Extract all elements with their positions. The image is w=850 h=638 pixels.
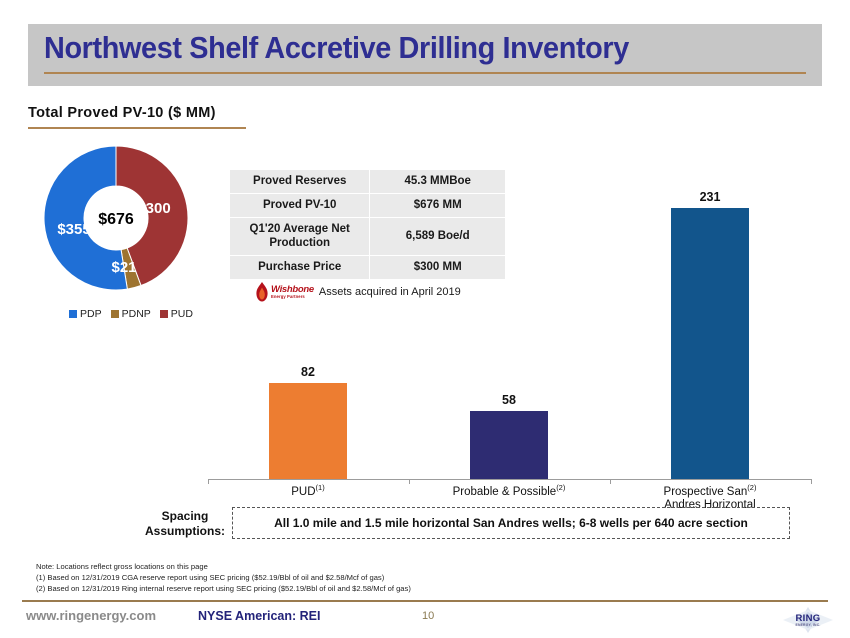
footer-website-url[interactable]: www.ringenergy.com	[26, 608, 156, 623]
bar-category-text: Prospective San	[664, 486, 748, 498]
footnote-note: Note: Locations reflect gross locations …	[36, 561, 411, 572]
bar-column-probable-possible: 58	[409, 393, 609, 479]
bar-rect-probable-possible	[470, 411, 548, 479]
bar-chart-x-axis	[208, 479, 812, 480]
bar-column-prospective-san-andres: 231	[610, 190, 810, 479]
bar-value-probable-possible: 58	[502, 393, 516, 407]
footer-page-number: 10	[422, 610, 434, 622]
footer-divider	[22, 600, 828, 602]
legend-label-pud: PUD	[171, 308, 193, 320]
ring-logo-subtitle: ENERGY, INC.	[782, 623, 834, 627]
slide-northwest-shelf-accretive-drilling-inventory: Northwest Shelf Accretive Drilling Inven…	[0, 0, 850, 638]
bar-category-text: PUD	[291, 486, 315, 498]
donut-value-pdp: $355	[57, 221, 90, 238]
title-underline-rule	[44, 72, 806, 74]
pv10-donut-chart: $300 $21 $355 $676	[36, 138, 226, 298]
donut-value-pdnp: $21	[111, 259, 136, 276]
footnotes: Note: Locations reflect gross locations …	[36, 561, 411, 595]
bar-value-prospective-san-andres: 231	[700, 190, 721, 204]
donut-center-total: $676	[98, 211, 134, 228]
bar-category-text: Probable & Possible	[453, 486, 557, 498]
pv10-section-label: Total Proved PV-10 ($ MM)	[28, 105, 216, 121]
axis-tick	[811, 479, 812, 484]
bar-rect-prospective-san-andres	[671, 208, 749, 479]
spacing-assumptions-box: All 1.0 mile and 1.5 mile horizontal San…	[232, 507, 790, 539]
ring-energy-logo: RING ENERGY, INC.	[782, 606, 834, 634]
drilling-inventory-bar-chart: 82 58 231 PUD(1) Probable & Possible(2) …	[208, 188, 812, 480]
legend-swatch-pud-icon	[160, 310, 168, 318]
page-title: Northwest Shelf Accretive Drilling Inven…	[44, 30, 629, 66]
bar-category-footnote: (2)	[747, 483, 756, 492]
legend-item-pud: PUD	[160, 308, 193, 320]
bar-rect-pud	[269, 383, 347, 479]
footnote-2: (2) Based on 12/31/2019 Ring internal re…	[36, 583, 411, 594]
bar-column-pud: 82	[208, 365, 408, 479]
bar-category-label-pud: PUD(1)	[208, 484, 408, 499]
spacing-assumptions-label: Spacing Assumptions:	[130, 509, 240, 539]
spacing-label-line2: Assumptions:	[145, 524, 225, 538]
footnote-1: (1) Based on 12/31/2019 CGA reserve repo…	[36, 572, 411, 583]
bar-category-label-probable-possible: Probable & Possible(2)	[409, 484, 609, 499]
legend-item-pdnp: PDNP	[111, 308, 151, 320]
spacing-assumptions-text: All 1.0 mile and 1.5 mile horizontal San…	[274, 516, 748, 530]
bar-category-footnote: (2)	[556, 483, 565, 492]
footer-ticker-symbol: NYSE American: REI	[198, 609, 321, 623]
legend-swatch-pdnp-icon	[111, 310, 119, 318]
bar-category-footnote: (1)	[316, 483, 325, 492]
donut-legend: PDP PDNP PUD	[36, 308, 226, 320]
legend-label-pdnp: PDNP	[122, 308, 151, 320]
legend-swatch-pdp-icon	[69, 310, 77, 318]
legend-label-pdp: PDP	[80, 308, 102, 320]
donut-value-pud: $300	[137, 200, 170, 217]
spacing-label-line1: Spacing	[162, 509, 209, 523]
pv10-section-underline	[28, 127, 246, 129]
bar-value-pud: 82	[301, 365, 315, 379]
donut-svg: $300 $21 $355 $676	[36, 138, 226, 298]
legend-item-pdp: PDP	[69, 308, 102, 320]
